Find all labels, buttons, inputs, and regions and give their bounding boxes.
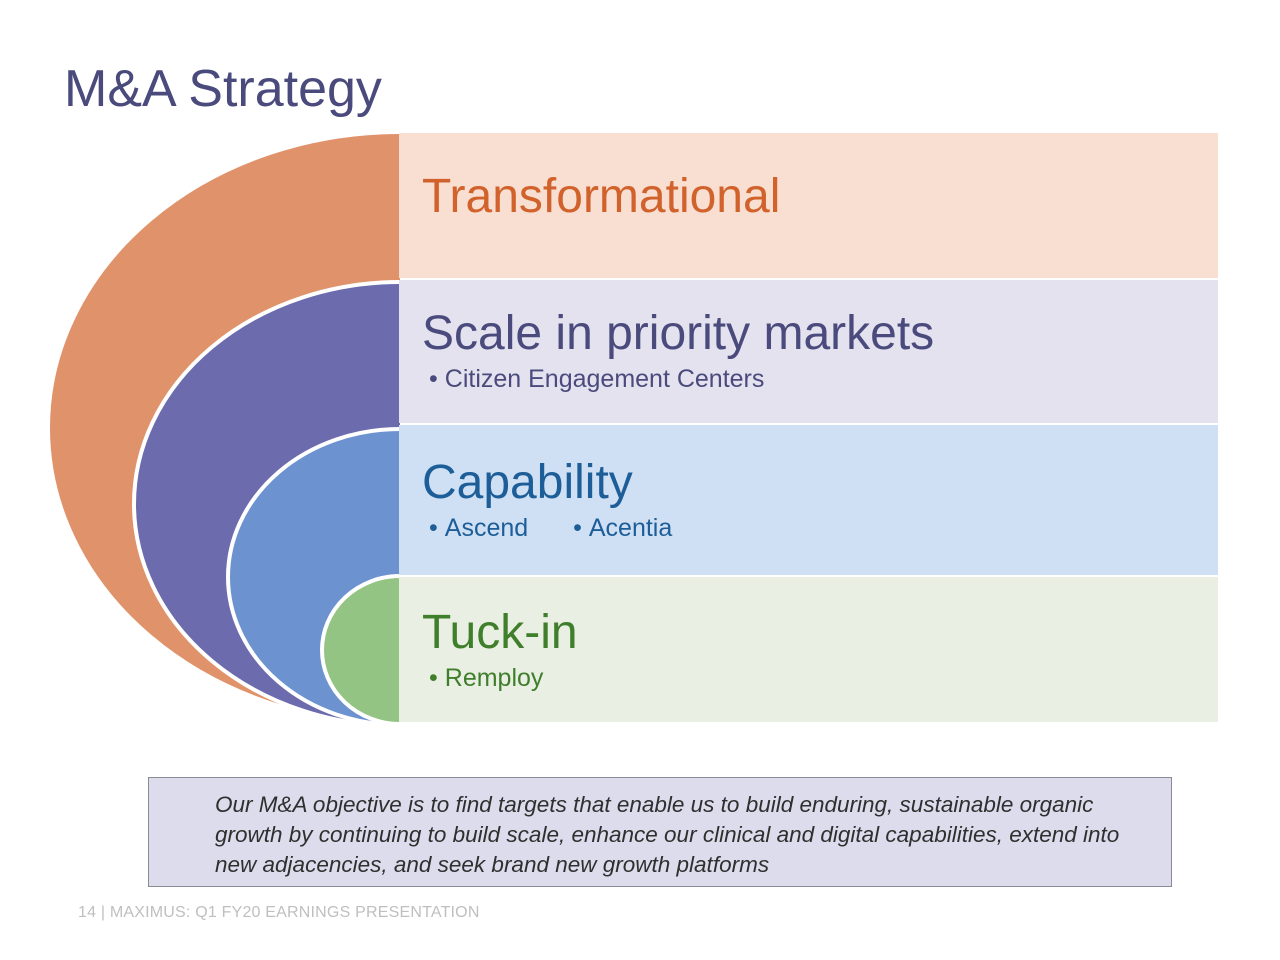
objective-callout-box: Our M&A objective is to find targets tha… (148, 777, 1172, 887)
bullet-label: Acentia (589, 514, 672, 542)
objective-callout-text: Our M&A objective is to find targets tha… (215, 790, 1141, 880)
slide-canvas: M&A Strategy Transformational Scale in p… (0, 0, 1280, 960)
tier-title-tuckin: Tuck-in (422, 577, 1218, 661)
bullet-dot-icon: • (573, 513, 582, 543)
tier-bullets-scale: •Citizen Engagement Centers (422, 364, 1218, 394)
tier-title-scale: Scale in priority markets (422, 280, 1218, 362)
tier-title-capability: Capability (422, 425, 1218, 511)
list-item: •Remploy (429, 663, 543, 693)
tier-band-transformational: Transformational (399, 133, 1218, 278)
page-title: M&A Strategy (64, 60, 382, 118)
tier-bullets-tuckin: •Remploy (422, 663, 1218, 693)
list-item: •Ascend (429, 513, 528, 543)
bullet-label: Citizen Engagement Centers (445, 365, 765, 393)
tier-band-scale: Scale in priority markets •Citizen Engag… (399, 280, 1218, 423)
list-item: •Citizen Engagement Centers (429, 364, 764, 394)
tier-bullets-capability: •Ascend •Acentia (422, 513, 1218, 543)
list-item: •Acentia (573, 513, 672, 543)
bullet-label: Ascend (445, 514, 528, 542)
tier-title-transformational: Transformational (422, 133, 1218, 225)
bullet-dot-icon: • (429, 513, 438, 543)
bullet-dot-icon: • (429, 663, 438, 693)
bullet-dot-icon: • (429, 364, 438, 394)
slide-footer: 14 | MAXIMUS: Q1 FY20 EARNINGS PRESENTAT… (78, 903, 480, 923)
tier-band-tuckin: Tuck-in •Remploy (399, 577, 1218, 722)
bullet-label: Remploy (445, 664, 544, 692)
tier-band-capability: Capability •Ascend •Acentia (399, 425, 1218, 575)
